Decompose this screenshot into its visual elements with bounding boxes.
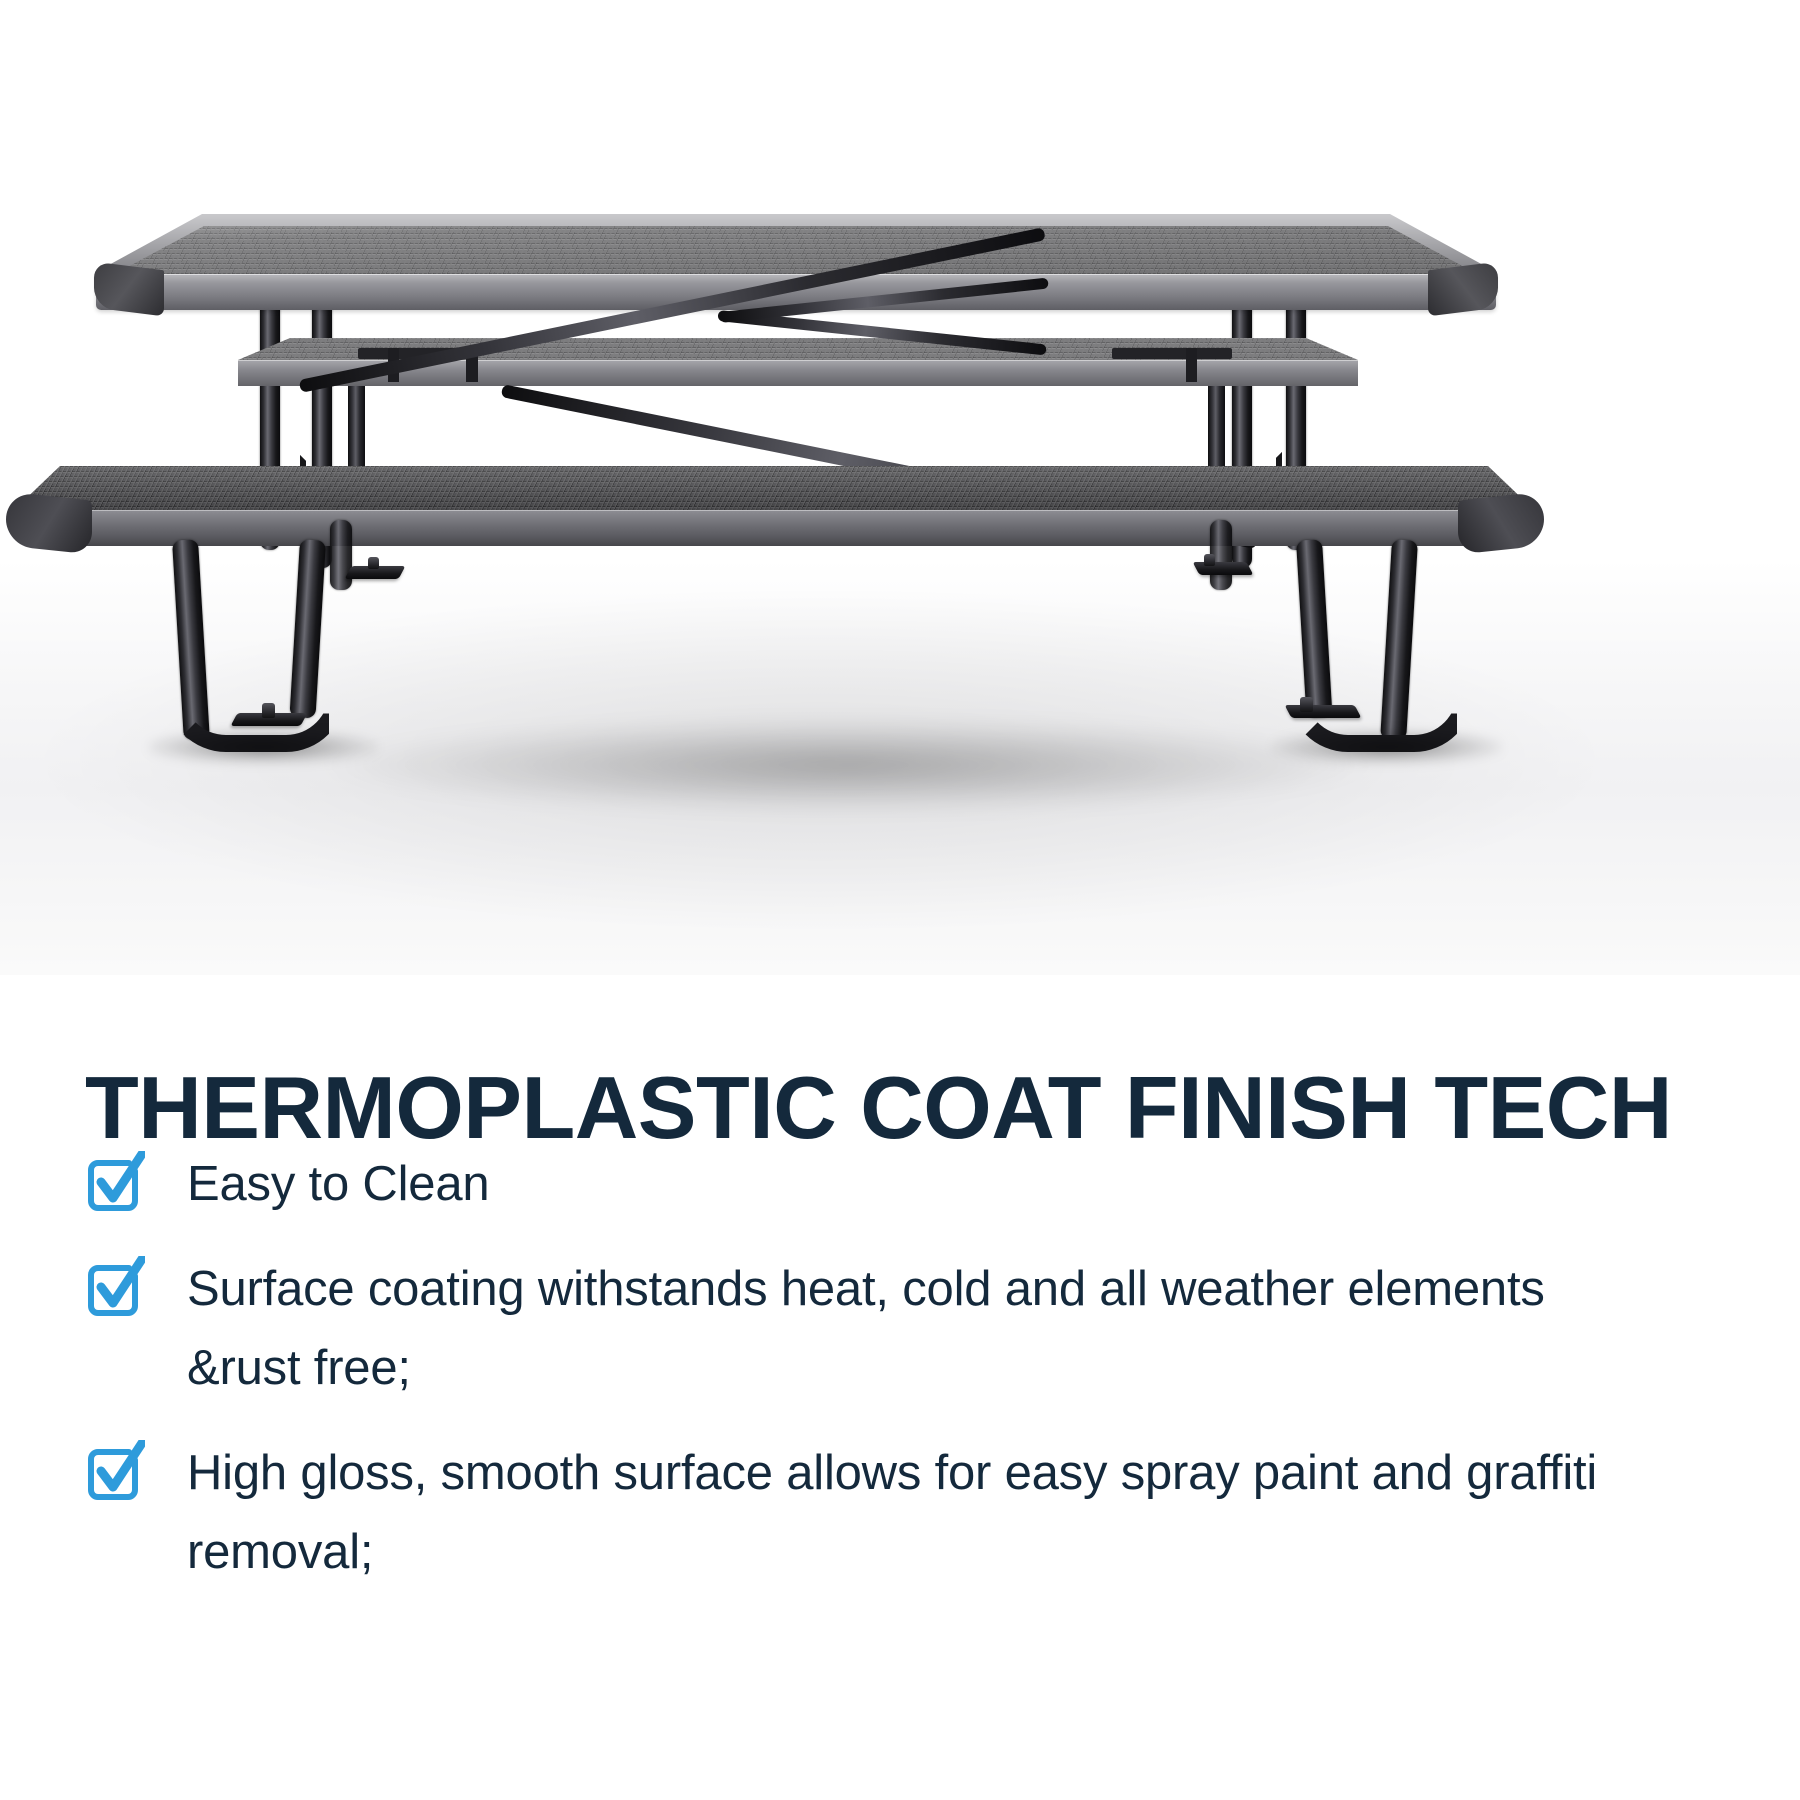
under-shelf-bracket (1186, 348, 1197, 382)
page-title: THERMOPLASTIC COAT FINISH TECH (85, 1059, 1745, 1157)
list-item: High gloss, smooth surface allows for ea… (85, 1434, 1745, 1592)
list-item: Surface coating withstands heat, cold an… (85, 1250, 1745, 1408)
list-item: Easy to Clean (85, 1145, 1745, 1224)
tubular-steel-leg (330, 520, 352, 590)
table-top (96, 214, 1496, 310)
bench-cap-left (6, 491, 92, 554)
feature-text: High gloss, smooth surface allows for ea… (187, 1434, 1657, 1592)
checkbox-checked-icon (85, 1151, 145, 1213)
anchor-foot-plate (1193, 562, 1254, 575)
marketing-copy-block: THERMOPLASTIC COAT FINISH TECH Easy to C… (0, 975, 1800, 1800)
anchor-bolt (262, 703, 275, 718)
center-support-post (348, 372, 365, 480)
anchor-foot-plate (1285, 705, 1362, 718)
leg-contact-shadow (1272, 730, 1502, 764)
product-photo (0, 0, 1800, 975)
feature-list: Easy to Clean Surface coating withstands… (85, 1145, 1745, 1618)
checkbox-checked-icon (85, 1440, 145, 1502)
anchor-bolt (1300, 697, 1313, 712)
leg-contact-shadow (148, 730, 378, 764)
center-support-post (1208, 372, 1225, 480)
feature-text: Easy to Clean (187, 1145, 1745, 1224)
checkbox-checked-icon (85, 1256, 145, 1318)
bench-cap-right (1458, 491, 1544, 554)
feature-text: Surface coating withstands heat, cold an… (187, 1250, 1657, 1408)
anchor-bolt (1204, 554, 1215, 566)
front-bench-seat (14, 466, 1534, 546)
anchor-bolt (368, 557, 379, 569)
under-shelf-bracket (1112, 348, 1232, 359)
